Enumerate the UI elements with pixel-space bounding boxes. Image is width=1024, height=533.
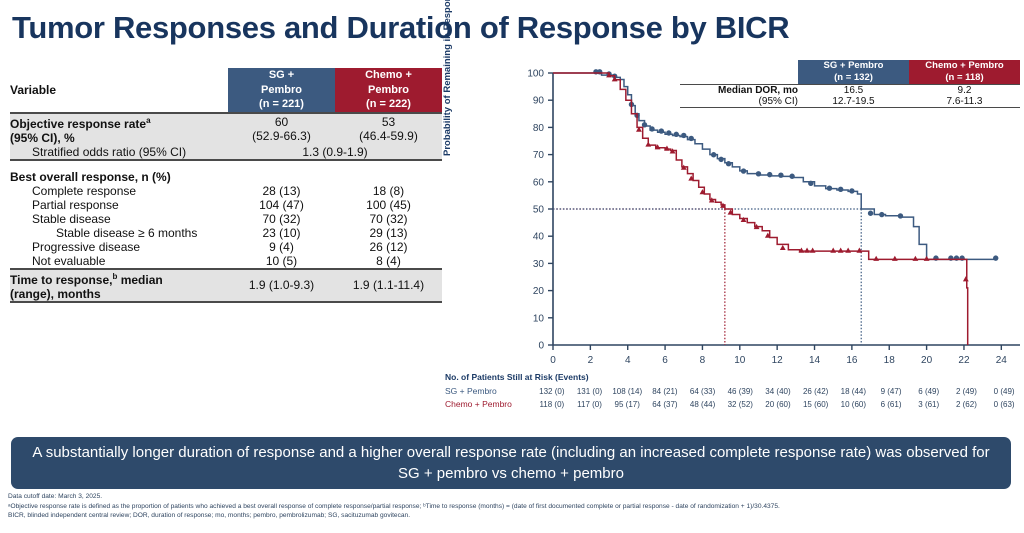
censor-mark-triangle: [810, 248, 816, 253]
censor-mark-triangle: [856, 248, 862, 253]
censor-mark-triangle: [838, 248, 844, 253]
censor-mark-circle: [689, 136, 694, 141]
row-value-sg: 9 (4): [228, 240, 335, 254]
footnote-definitions: ᵃObjective response rate is defined as t…: [8, 502, 1014, 512]
row-value-chemo: 100 (45): [335, 198, 442, 212]
dor-value-sg-median: 16.5: [798, 85, 909, 97]
y-axis-tick-label: 30: [533, 259, 545, 270]
dor-value-chemo-median: 9.2: [909, 85, 1020, 97]
patients-at-risk-arm-label: Chemo + Pembro: [445, 398, 533, 411]
y-axis-tick-label: 80: [533, 123, 545, 134]
patients-at-risk-cell: 6 (49): [910, 385, 948, 398]
patients-at-risk-cell: 9 (47): [872, 385, 910, 398]
chart-y-axis-label: Probability of Remaining in Response: [442, 0, 453, 156]
patients-at-risk-row: SG + Pembro132 (0)131 (0)108 (14)84 (21)…: [445, 385, 1023, 398]
row-value-chemo: 1.9 (1.1-11.4): [335, 269, 442, 302]
row-value-sg: 104 (47): [228, 198, 335, 212]
patients-at-risk-cell: 26 (42): [797, 385, 835, 398]
patients-at-risk-cell: 2 (62): [948, 398, 986, 411]
patients-at-risk-cell: 132 (0): [533, 385, 571, 398]
x-axis-tick-label: 0: [550, 355, 556, 366]
x-axis-tick-label: 6: [662, 355, 668, 366]
header-arm-chemo-line1: Chemo +: [365, 69, 412, 81]
patients-at-risk-cell: 48 (44): [684, 398, 722, 411]
censor-mark-circle: [879, 212, 884, 217]
censor-mark-circle: [808, 181, 813, 186]
censor-mark-circle: [898, 213, 903, 218]
censor-mark-triangle: [873, 256, 879, 261]
row-label-partial-response: Partial response: [10, 198, 228, 212]
censor-mark-triangle: [804, 248, 810, 253]
dor-header-row: SG + Pembro (n = 132) Chemo + Pembro (n …: [680, 60, 1020, 85]
censor-mark-triangle: [741, 217, 747, 222]
censor-mark-circle: [868, 211, 873, 216]
header-arm-chemo-line2: Pembro: [368, 84, 409, 96]
censor-mark-circle: [767, 172, 772, 177]
censor-mark-triangle: [645, 141, 651, 146]
censor-mark-triangle: [780, 245, 786, 250]
x-axis-tick-label: 24: [996, 355, 1008, 366]
patients-at-risk-cell: 6 (61): [872, 398, 910, 411]
row-label-text: Time to response,: [10, 273, 112, 287]
censor-mark-triangle: [892, 256, 898, 261]
censor-mark-circle: [649, 126, 654, 131]
dor-row-ci: (95% CI) 12.7-19.5 7.6-11.3: [680, 96, 1020, 108]
dor-header-chemo-line2: (n = 118): [945, 72, 983, 83]
censor-mark-circle: [789, 174, 794, 179]
table-row: Objective response ratea (95% CI), % 60 …: [10, 113, 442, 145]
row-value-chemo: 8 (4): [335, 254, 442, 269]
row-label-stable-disease: Stable disease: [10, 212, 228, 226]
patients-at-risk-cell: 118 (0): [533, 398, 571, 411]
value-ci: (46.4-59.9): [359, 129, 418, 143]
km-curve-chemo-pembro: [553, 73, 968, 345]
dor-header-sg-line1: SG + Pembro: [824, 60, 884, 71]
y-axis-tick-label: 40: [533, 232, 545, 243]
header-arm-sg-line1: SG +: [269, 69, 294, 81]
header-variable: Variable: [10, 68, 228, 113]
y-axis-tick-label: 60: [533, 177, 545, 188]
table-row: Progressive disease 9 (4) 26 (12): [10, 240, 442, 254]
censor-mark-triangle: [924, 256, 930, 261]
censor-mark-circle: [718, 157, 723, 162]
table-row: Partial response 104 (47) 100 (45): [10, 198, 442, 212]
censor-mark-circle: [659, 128, 664, 133]
duration-of-response-km-chart: Probability of Remaining in Response 010…: [444, 60, 1024, 435]
x-axis-tick-label: 20: [921, 355, 933, 366]
patients-at-risk-row: Chemo + Pembro118 (0)117 (0)95 (17)64 (3…: [445, 398, 1023, 411]
censor-mark-triangle: [830, 248, 836, 253]
row-label-complete-response: Complete response: [10, 184, 228, 198]
x-axis-tick-label: 4: [625, 355, 631, 366]
table-header-row: Variable SG + Pembro (n = 221) Chemo + P…: [10, 68, 442, 113]
row-label-not-evaluable: Not evaluable: [10, 254, 228, 269]
censor-mark-circle: [741, 168, 746, 173]
patients-at-risk-arm-label: SG + Pembro: [445, 385, 533, 398]
y-axis-tick-label: 50: [533, 205, 545, 216]
table-row: Stable disease ≥ 6 months 23 (10) 29 (13…: [10, 226, 442, 240]
row-value-chemo: 18 (8): [335, 184, 442, 198]
row-label-text-2: (range), months: [10, 287, 101, 301]
censor-mark-circle: [849, 188, 854, 193]
censor-mark-circle: [666, 130, 671, 135]
censor-mark-circle: [681, 133, 686, 138]
spacer-cell: [335, 160, 442, 184]
row-value-sg: 70 (32): [228, 212, 335, 226]
footnote-marker-a: a: [146, 116, 150, 125]
row-label-text-tail: median: [117, 273, 162, 287]
censor-mark-triangle: [963, 276, 969, 281]
dor-value-sg-ci: 12.7-19.5: [798, 96, 909, 108]
censor-mark-circle: [711, 152, 716, 157]
patients-at-risk-cell: 131 (0): [571, 385, 609, 398]
x-axis-tick-label: 10: [734, 355, 746, 366]
patients-at-risk-cell: 18 (44): [835, 385, 873, 398]
censor-mark-circle: [993, 255, 998, 260]
dor-value-chemo-ci: 7.6-11.3: [909, 96, 1020, 108]
censor-mark-circle: [726, 161, 731, 166]
dor-label-ci: (95% CI): [680, 96, 798, 108]
patients-at-risk-cell: 64 (37): [646, 398, 684, 411]
row-value-chemo: 29 (13): [335, 226, 442, 240]
row-value-sg: 1.9 (1.0-9.3): [228, 269, 335, 302]
value-primary: 60: [275, 115, 288, 129]
dor-header-sg-line2: (n = 132): [834, 72, 873, 83]
footnotes: Data cutoff date: March 3, 2025. ᵃObject…: [8, 492, 1014, 521]
y-axis-tick-label: 0: [538, 341, 544, 352]
x-axis-tick-label: 12: [772, 355, 784, 366]
header-arm-chemo-pembro: Chemo + Pembro (n = 222): [335, 68, 442, 113]
row-label-text-2: (95% CI), %: [10, 131, 75, 145]
patients-at-risk-cell: 2 (49): [948, 385, 986, 398]
table-row: Best overall response, n (%): [10, 160, 442, 184]
y-axis-tick-label: 90: [533, 96, 545, 107]
y-axis-tick-label: 20: [533, 286, 545, 297]
y-axis-tick-label: 100: [527, 69, 544, 80]
header-arm-sg-line2: Pembro: [261, 84, 302, 96]
patients-at-risk-title: No. of Patients Still at Risk (Events): [445, 372, 1023, 382]
tumor-response-table: Variable SG + Pembro (n = 221) Chemo + P…: [10, 68, 442, 303]
patients-at-risk-cell: 0 (49): [985, 385, 1023, 398]
censor-mark-circle: [778, 172, 783, 177]
header-arm-chemo-line3: (n = 222): [366, 98, 411, 110]
row-value-sg: 23 (10): [228, 226, 335, 240]
row-label-stable-disease-6mo: Stable disease ≥ 6 months: [10, 226, 228, 240]
patients-at-risk-cell: 95 (17): [608, 398, 646, 411]
patients-at-risk-cell: 64 (33): [684, 385, 722, 398]
table-row: Stratified odds ratio (95% CI) 1.3 (0.9-…: [10, 145, 442, 160]
y-axis-tick-label: 70: [533, 150, 545, 161]
row-label-progressive-disease: Progressive disease: [10, 240, 228, 254]
patients-at-risk-cell: 0 (63): [985, 398, 1023, 411]
dor-header-sg: SG + Pembro (n = 132): [798, 60, 909, 85]
dor-header-chemo: Chemo + Pembro (n = 118): [909, 60, 1020, 85]
footnote-data-cutoff: Data cutoff date: March 3, 2025.: [8, 492, 1014, 502]
spacer-cell: [228, 160, 335, 184]
censor-mark-circle: [827, 186, 832, 191]
dor-header-chemo-line1: Chemo + Pembro: [925, 60, 1003, 71]
value-primary: 53: [382, 115, 395, 129]
page-title: Tumor Responses and Duration of Response…: [12, 8, 1012, 48]
footnote-abbreviations: BICR, blinded independent central review…: [8, 511, 1014, 521]
row-label-text: Objective response rate: [10, 117, 146, 131]
x-axis-tick-label: 22: [958, 355, 970, 366]
row-value-sg: 10 (5): [228, 254, 335, 269]
row-value-chemo: 26 (12): [335, 240, 442, 254]
dor-row-median: Median DOR, mo 16.5 9.2: [680, 85, 1020, 97]
patients-at-risk-cell: 46 (39): [721, 385, 759, 398]
row-value-chemo: 53 (46.4-59.9): [335, 113, 442, 145]
table-row: Time to response,b median (range), month…: [10, 269, 442, 302]
value-ci: (52.9-66.3): [252, 129, 311, 143]
patients-at-risk-cell: 34 (40): [759, 385, 797, 398]
patients-at-risk-cell: 15 (60): [797, 398, 835, 411]
dor-label-median: Median DOR, mo: [680, 85, 798, 97]
row-label-stratified-odds-ratio: Stratified odds ratio (95% CI): [10, 145, 228, 160]
patients-at-risk-cell: 20 (60): [759, 398, 797, 411]
table-row: Not evaluable 10 (5) 8 (4): [10, 254, 442, 269]
x-axis-tick-label: 16: [846, 355, 858, 366]
x-axis-tick-label: 14: [809, 355, 821, 366]
x-axis-tick-label: 8: [700, 355, 706, 366]
header-arm-sg-pembro: SG + Pembro (n = 221): [228, 68, 335, 113]
row-label-best-overall-response: Best overall response, n (%): [10, 160, 228, 184]
patients-at-risk-cell: 32 (52): [721, 398, 759, 411]
patients-at-risk-cell: 10 (60): [835, 398, 873, 411]
row-value-sg: 60 (52.9-66.3): [228, 113, 335, 145]
row-value-sg: 28 (13): [228, 184, 335, 198]
x-axis-tick-label: 2: [588, 355, 594, 366]
x-axis-tick-label: 18: [884, 355, 896, 366]
patients-at-risk-cell: 117 (0): [571, 398, 609, 411]
patients-at-risk-cell: 108 (14): [608, 385, 646, 398]
table-row: Complete response 28 (13) 18 (8): [10, 184, 442, 198]
censor-mark-circle: [756, 171, 761, 176]
row-label-time-to-response: Time to response,b median (range), month…: [10, 269, 228, 302]
censor-mark-triangle: [912, 256, 918, 261]
row-label-objective-response-rate: Objective response ratea (95% CI), %: [10, 113, 228, 145]
row-value-odds-ratio: 1.3 (0.9-1.9): [228, 145, 442, 160]
censor-mark-triangle: [845, 248, 851, 253]
censor-mark-circle: [838, 187, 843, 192]
patients-at-risk-table: No. of Patients Still at Risk (Events) S…: [445, 372, 1023, 411]
dor-header-spacer: [680, 60, 798, 85]
conclusion-banner: A substantially longer duration of respo…: [11, 437, 1011, 489]
patients-at-risk-cell: 84 (21): [646, 385, 684, 398]
row-value-chemo: 70 (32): [335, 212, 442, 226]
header-arm-sg-line3: (n = 221): [259, 98, 304, 110]
table-row: Stable disease 70 (32) 70 (32): [10, 212, 442, 226]
patients-at-risk-cell: 3 (61): [910, 398, 948, 411]
censor-mark-circle: [674, 132, 679, 137]
y-axis-tick-label: 10: [533, 313, 545, 324]
median-dor-box: SG + Pembro (n = 132) Chemo + Pembro (n …: [680, 60, 1020, 108]
